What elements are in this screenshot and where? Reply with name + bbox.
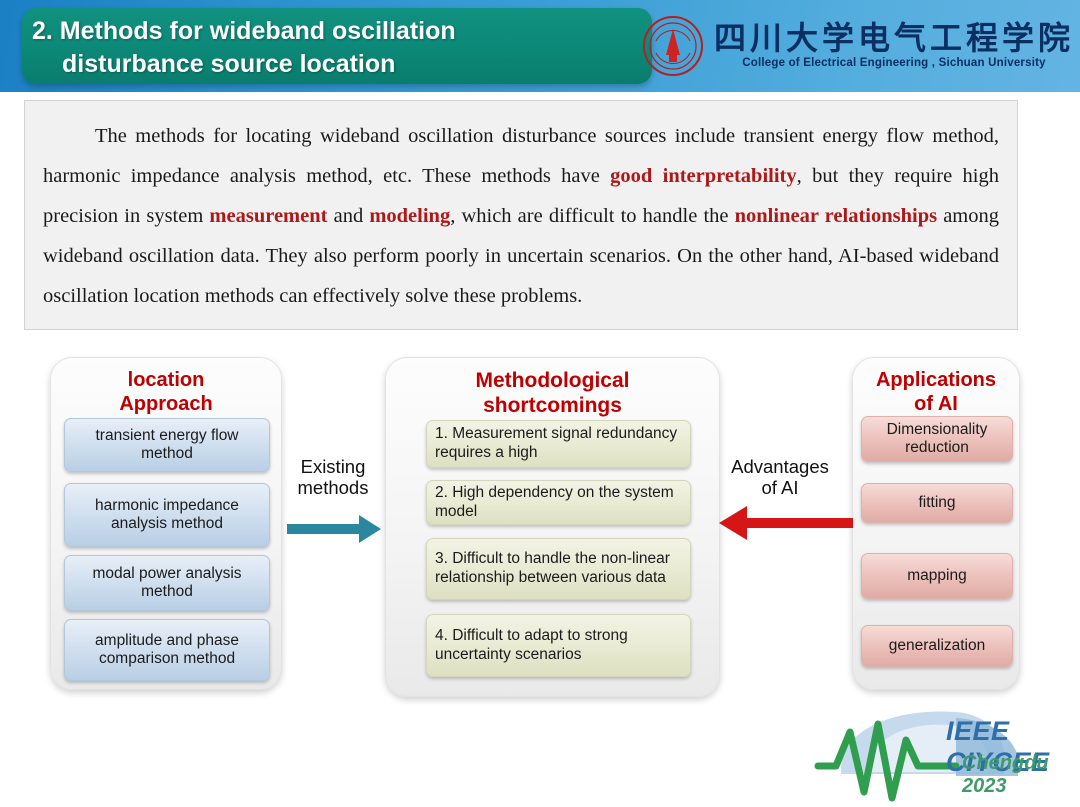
list-item[interactable]: fitting	[861, 483, 1013, 523]
list-item[interactable]: Dimensionality reduction	[861, 416, 1013, 462]
university-logo-text: 四川大学电气工程学院 College of Electrical Enginee…	[714, 22, 1074, 70]
body-text-box: The methods for locating wideband oscill…	[24, 100, 1018, 330]
highlight-good-interpretability: good interpretability	[610, 165, 796, 187]
panel-mid-title-line2: shortcomings	[386, 393, 719, 418]
panel-left-title-line1: location	[51, 368, 281, 392]
list-item[interactable]: 1. Measurement signal redundancy require…	[426, 420, 691, 468]
page-title-line1: 2. Methods for wideband oscillation	[32, 17, 456, 45]
arrow-label-advantages-of-ai: Advantages of AI	[706, 456, 854, 499]
list-item[interactable]: mapping	[861, 553, 1013, 599]
panel-location-approach: location Approach transient energy flow …	[50, 357, 282, 690]
panel-methodological-shortcomings: Methodological shortcomings 1. Measureme…	[385, 357, 720, 697]
university-name-cn: 四川大学电气工程学院	[714, 22, 1074, 54]
para-text-4: , which are difficult to handle the	[450, 205, 734, 227]
para-text-3: and	[327, 205, 369, 227]
list-item[interactable]: 4. Difficult to adapt to strong uncertai…	[426, 614, 691, 677]
slide-header: 2. Methods for wideband oscillation dist…	[0, 0, 1080, 92]
list-item[interactable]: 3. Difficult to handle the non-linear re…	[426, 538, 691, 600]
highlight-nonlinear-relationships: nonlinear relationships	[735, 205, 937, 227]
university-name-en: College of Electrical Engineering , Sich…	[742, 58, 1046, 70]
highlight-modeling: modeling	[369, 205, 450, 227]
list-item[interactable]: harmonic impedance analysis method	[64, 483, 270, 547]
panel-right-title: Applications of AI	[853, 358, 1019, 416]
arrow-right-label-line2: of AI	[706, 477, 854, 498]
slide-root: 2. Methods for wideband oscillation dist…	[0, 0, 1080, 807]
list-item[interactable]: transient energy flow method	[64, 418, 270, 472]
panel-applications-of-ai: Applications of AI Dimensionality reduct…	[852, 357, 1020, 690]
panel-mid-title-line1: Methodological	[386, 368, 719, 393]
arrow-left-label-line1: Existing	[283, 456, 383, 477]
arrow-label-existing-methods: Existing methods	[283, 456, 383, 499]
panel-mid-title: Methodological shortcomings	[386, 358, 719, 418]
page-title-line2: disturbance source location	[32, 48, 622, 81]
body-paragraph: The methods for locating wideband oscill…	[25, 101, 1017, 317]
panel-right-title-line1: Applications	[853, 368, 1019, 392]
list-item[interactable]: amplitude and phase comparison method	[64, 619, 270, 681]
panel-left-title: location Approach	[51, 358, 281, 416]
page-title: 2. Methods for wideband oscillation dist…	[32, 15, 622, 81]
arrow-left-label-line2: methods	[283, 477, 383, 498]
sichuan-university-seal-icon	[642, 15, 704, 77]
list-item[interactable]: 2. High dependency on the system model	[426, 480, 691, 525]
list-item[interactable]: modal power analysis method	[64, 555, 270, 611]
arrow-right-label-line1: Advantages	[706, 456, 854, 477]
ieee-ciycee-city-year: Chengdu 2023	[962, 752, 1080, 798]
university-logo: 四川大学电气工程学院 College of Electrical Enginee…	[642, 6, 1074, 86]
panel-right-title-line2: of AI	[853, 392, 1019, 416]
panel-left-title-line2: Approach	[51, 392, 281, 416]
ieee-ciycee-logo: IEEE CIYCEE Chengdu 2023	[806, 694, 1080, 807]
list-item[interactable]: generalization	[861, 625, 1013, 667]
highlight-measurement: measurement	[209, 205, 327, 227]
